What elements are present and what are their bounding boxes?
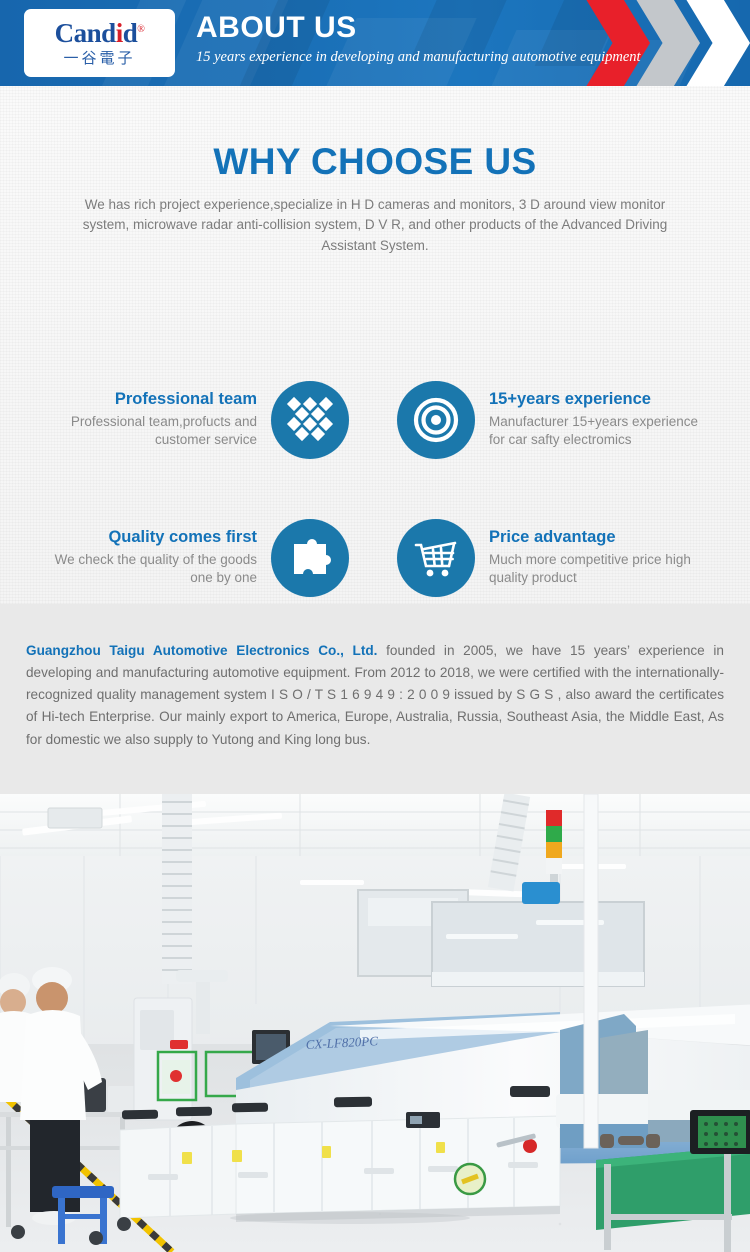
- feature-text: Price advantage Much more competitive pr…: [489, 528, 699, 588]
- feature-body: Professional team,profucts and customer …: [47, 413, 257, 450]
- logo-word-red-letter: i: [116, 18, 123, 48]
- why-choose-us-description: We has rich project experience,specializ…: [0, 195, 750, 257]
- feature-text: 15+years experience Manufacturer 15+year…: [489, 390, 699, 450]
- feature-text: Quality comes first We check the quality…: [47, 528, 257, 588]
- feature-grid: Professional team Professional team,prof…: [0, 358, 750, 634]
- feature-item-professional-team: Professional team Professional team,prof…: [0, 358, 375, 482]
- feature-heading: Price advantage: [489, 528, 699, 548]
- logo-chinese-name: 一谷電子: [63, 51, 135, 66]
- why-choose-us-section: WHY CHOOSE US We has rich project experi…: [0, 86, 750, 604]
- feature-row: Quality comes first We check the quality…: [0, 496, 750, 620]
- diamond-grid-icon: [271, 381, 349, 459]
- shopping-cart-icon: [397, 519, 475, 597]
- feature-heading: 15+years experience: [489, 390, 699, 410]
- banner-text-group: ABOUT US 15 years experience in developi…: [196, 12, 641, 67]
- page-header-banner: Candid® 一谷電子 ABOUT US 15 years experienc…: [0, 0, 750, 86]
- company-logo[interactable]: Candid® 一谷電子: [24, 9, 175, 77]
- feature-item-price-advantage: Price advantage Much more competitive pr…: [375, 496, 750, 620]
- feature-body: Manufacturer 15+years experience for car…: [489, 413, 699, 450]
- feature-body: We check the quality of the goods one by…: [47, 551, 257, 588]
- logo-word-prefix: Cand: [55, 18, 116, 48]
- feature-heading: Quality comes first: [47, 528, 257, 548]
- factory-photo: CX-LF820PC: [0, 794, 750, 1252]
- company-description-body: founded in 2005, we have 15 years’ exper…: [26, 643, 724, 747]
- company-description-section: Guangzhou Taigu Automotive Electronics C…: [0, 604, 750, 794]
- page-title: ABOUT US: [196, 12, 641, 44]
- company-description-paragraph: Guangzhou Taigu Automotive Electronics C…: [26, 640, 724, 751]
- feature-heading: Professional team: [47, 390, 257, 410]
- feature-body: Much more competitive price high quality…: [489, 551, 699, 588]
- feature-row: Professional team Professional team,prof…: [0, 358, 750, 482]
- registered-trademark-icon: ®: [137, 24, 144, 35]
- feature-item-years-experience: 15+years experience Manufacturer 15+year…: [375, 358, 750, 482]
- feature-text: Professional team Professional team,prof…: [47, 390, 257, 450]
- banner-subtitle: 15 years experience in developing and ma…: [196, 49, 641, 66]
- about-us-page: Candid® 一谷電子 ABOUT US 15 years experienc…: [0, 0, 750, 1252]
- why-choose-us-title: WHY CHOOSE US: [0, 86, 750, 182]
- logo-wordmark: Candid®: [55, 20, 145, 47]
- logo-word-suffix: d: [123, 18, 138, 48]
- company-name: Guangzhou Taigu Automotive Electronics C…: [26, 643, 377, 658]
- puzzle-piece-icon: [271, 519, 349, 597]
- feature-item-quality-first: Quality comes first We check the quality…: [0, 496, 375, 620]
- target-bullseye-icon: [397, 381, 475, 459]
